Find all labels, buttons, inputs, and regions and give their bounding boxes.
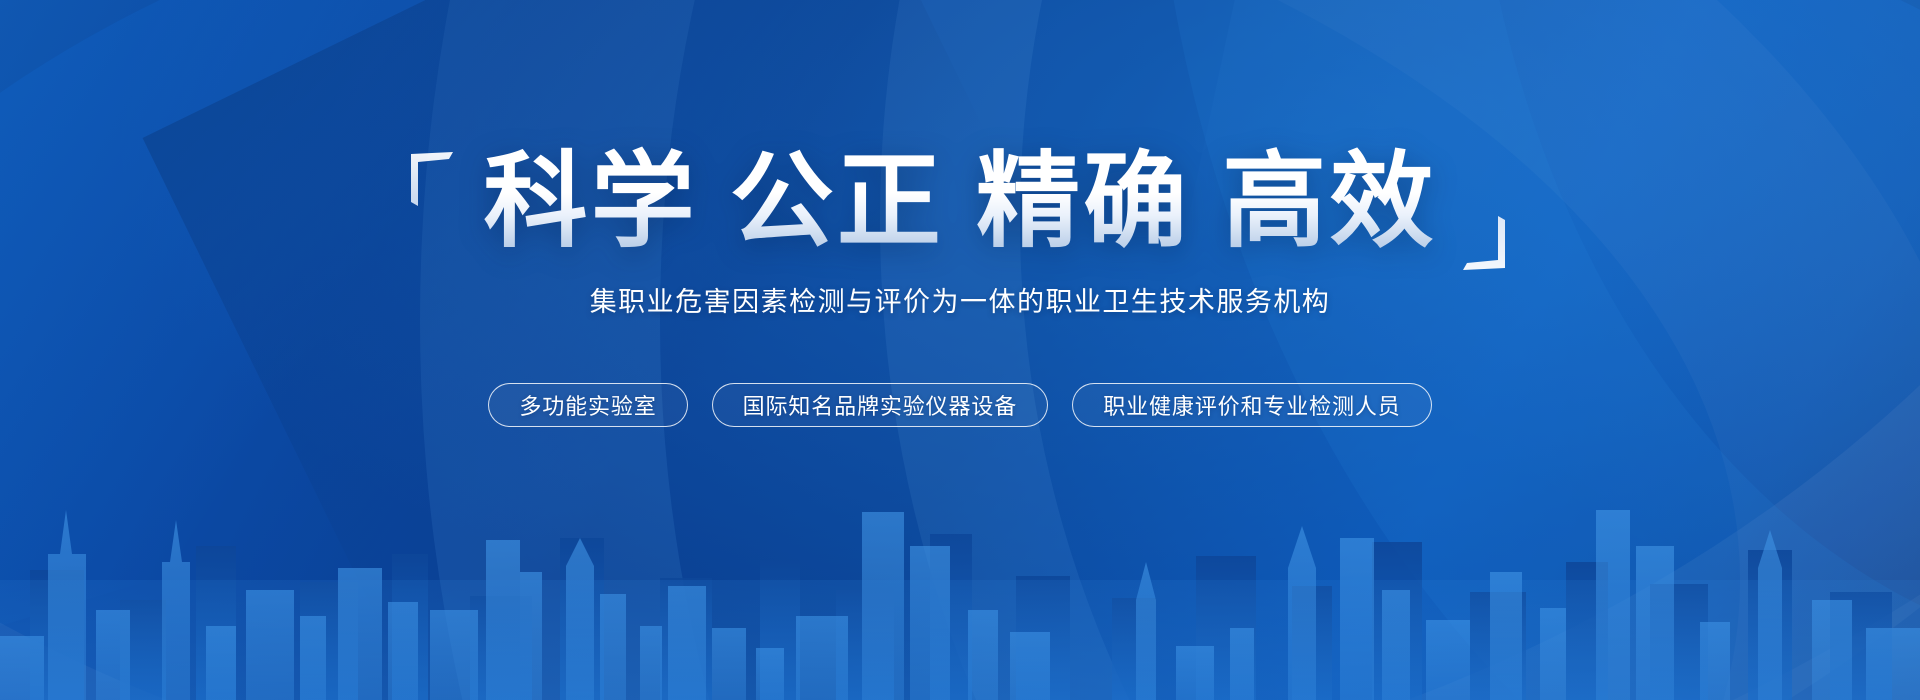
quote-bracket-open-icon bbox=[409, 152, 455, 208]
page-title: 科学 公正 精确 高效 bbox=[483, 146, 1436, 258]
feature-tag-equipment[interactable]: 国际知名品牌实验仪器设备 bbox=[712, 383, 1049, 427]
feature-tag-label: 多功能实验室 bbox=[519, 389, 656, 421]
banner-content: 科学 公正 精确 高效 集职业危害因素检测与评价为一体的职业卫生技术服务机构 多… bbox=[0, 0, 1920, 700]
banner-hero: 科学 公正 精确 高效 集职业危害因素检测与评价为一体的职业卫生技术服务机构 多… bbox=[0, 0, 1920, 700]
feature-tag-personnel[interactable]: 职业健康评价和专业检测人员 bbox=[1072, 383, 1431, 427]
feature-tag-label: 国际知名品牌实验仪器设备 bbox=[743, 389, 1018, 421]
page-subtitle: 集职业危害因素检测与评价为一体的职业卫生技术服务机构 bbox=[590, 280, 1331, 319]
feature-tag-lab[interactable]: 多功能实验室 bbox=[488, 383, 687, 427]
headline-group: 科学 公正 精确 高效 bbox=[483, 146, 1436, 258]
quote-bracket-close-icon bbox=[1461, 214, 1507, 270]
feature-tag-label: 职业健康评价和专业检测人员 bbox=[1103, 389, 1400, 421]
feature-tag-list: 多功能实验室 国际知名品牌实验仪器设备 职业健康评价和专业检测人员 bbox=[488, 383, 1431, 427]
